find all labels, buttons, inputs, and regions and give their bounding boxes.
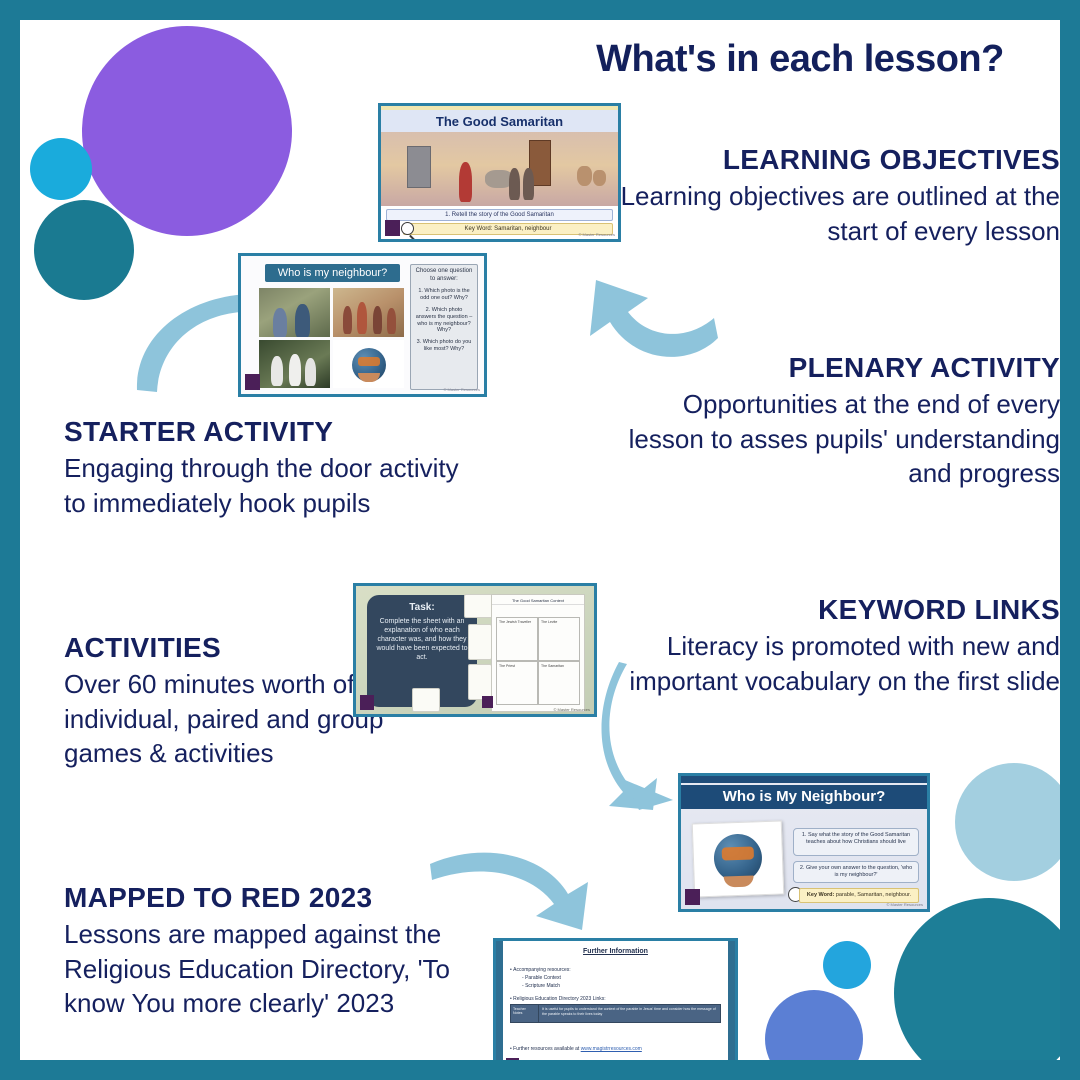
decor-circle-periwinkle	[765, 990, 863, 1060]
teacher-notes-text: It is useful for pupils to understand th…	[539, 1005, 720, 1022]
body-starter-activity: Engaging through the door activity to im…	[64, 451, 464, 520]
keyword-label: Key Word:	[465, 226, 493, 232]
teacher-notes-box: Teacher Notes It is useful for pupils to…	[510, 1004, 721, 1023]
task-label: Task:	[375, 601, 469, 614]
photo-children-running	[259, 340, 330, 389]
slide-illustration-samaritan-scene	[381, 132, 618, 206]
slide-right-edge	[728, 941, 735, 1060]
text-block-starter-activity: STARTER ACTIVITY Engaging through the do…	[64, 416, 464, 520]
slide-top-strip	[681, 776, 927, 783]
sub-bullet-text: Parable Context	[525, 975, 561, 981]
worksheet-title: The Good Samaritan Context	[492, 595, 584, 605]
decor-circle-purple	[82, 26, 292, 236]
decor-circle-teal-top	[34, 200, 134, 300]
question-heading: Choose one question to answer:	[415, 268, 473, 283]
globe-photo	[692, 820, 785, 897]
character-card-4	[412, 688, 440, 712]
heading-mapped-to-red-2023: MAPPED TO RED 2023	[64, 882, 494, 914]
slide-credit: © Master Resources	[578, 232, 615, 237]
slide-question-panel: Choose one question to answer: 1. Which …	[410, 264, 478, 390]
keyword-label: Key Word:	[807, 892, 834, 898]
body-mapped-to-red-2023: Lessons are mapped against the Religious…	[64, 917, 494, 1020]
slide-thumbnail-good-samaritan[interactable]: The Good Samaritan 1. Retell the story o…	[378, 103, 621, 242]
publisher-logo-icon	[245, 374, 260, 390]
further-resources-link[interactable]: www.magistrresources.com	[581, 1046, 642, 1052]
slide-thumbnail-further-information[interactable]: Further Information • Accompanying resou…	[493, 938, 738, 1060]
character-card-3	[468, 664, 492, 700]
worksheet-cell: The Priest	[496, 661, 538, 705]
question-item: 1. Which photo is the odd one out? Why?	[415, 288, 473, 302]
sub-bullet-parable-context: - Parable Context	[522, 975, 561, 982]
worksheet-cell: The Jewish Traveller	[496, 617, 538, 661]
worksheet-cell: The Levite	[538, 617, 580, 661]
heading-plenary-activity: PLENARY ACTIVITY	[620, 352, 1060, 384]
photo-globe-in-hands	[333, 340, 404, 389]
bullet-accompanying-resources: • Accompanying resources:	[510, 967, 571, 974]
publisher-logo-icon	[360, 695, 374, 710]
publisher-logo-icon	[685, 889, 700, 905]
slide-photo-grid	[259, 288, 404, 388]
text-block-mapped-to-red-2023: MAPPED TO RED 2023 Lessons are mapped ag…	[64, 882, 494, 1020]
plenary-question-2: 2. Give your own answer to the question,…	[793, 861, 919, 883]
task-text: Complete the sheet with an explanation o…	[376, 618, 467, 661]
page-title: What's in each lesson?	[540, 38, 1060, 81]
body-learning-objectives: Learning objectives are outlined at the …	[620, 179, 1060, 248]
publisher-logo-icon-secondary	[482, 696, 493, 708]
keyword-value: parable, Samaritan, neighbour.	[834, 892, 911, 898]
question-item: 3. Which photo do you like most? Why?	[415, 339, 473, 353]
slide-title-good-samaritan: The Good Samaritan	[381, 110, 618, 132]
publisher-logo-icon	[385, 220, 400, 236]
poster-inner: What's in each lesson? LEARNING OBJECTIV…	[20, 20, 1060, 1060]
slide-left-edge	[496, 941, 503, 1060]
sub-bullet-text: Scripture Match	[525, 983, 560, 989]
character-card-2	[468, 624, 492, 660]
slide-title-plenary-neighbour: Who is My Neighbour?	[681, 785, 927, 809]
plenary-question-1: 1. Say what the story of the Good Samari…	[793, 828, 919, 856]
worksheet-cell: The Samaritan	[538, 661, 580, 705]
text-block-keyword-links: KEYWORD LINKS Literacy is promoted with …	[620, 594, 1060, 698]
bullet-red-2023-links: • Religious Education Directory 2023 Lin…	[510, 996, 606, 1003]
bullet-text: Religious Education Directory 2023 Links…	[513, 996, 606, 1002]
decor-circle-teal-bottom	[894, 898, 1060, 1060]
heading-keyword-links: KEYWORD LINKS	[620, 594, 1060, 626]
teacher-notes-label: Teacher Notes	[511, 1005, 539, 1022]
bullet-text: Further resources available at	[513, 1046, 581, 1052]
text-block-learning-objectives: LEARNING OBJECTIVES Learning objectives …	[620, 144, 1060, 248]
slide-keyword-bar-plenary: Key Word: parable, Samaritan, neighbour.	[799, 888, 919, 903]
slide-credit: © Master Resources	[443, 387, 480, 392]
publisher-logo-icon	[506, 1058, 519, 1060]
question-item: 2. Which photo answers the question – wh…	[415, 307, 473, 335]
slide-thumbnail-starter-neighbour[interactable]: Who is my neighbour?	[238, 253, 487, 397]
slide-credit: © Master Resources	[553, 707, 590, 712]
heading-learning-objectives: LEARNING OBJECTIVES	[620, 144, 1060, 176]
slide-thumbnail-plenary-neighbour[interactable]: Who is My Neighbour? 1. Say what the sto…	[678, 773, 930, 912]
keyword-value: Samaritan, neighbour	[492, 226, 551, 232]
bullet-text: Accompanying resources:	[513, 967, 571, 973]
slide-credit: © Master Resources	[886, 902, 923, 907]
worksheet: The Good Samaritan Context The Jewish Tr…	[491, 594, 585, 712]
body-keyword-links: Literacy is promoted with new and import…	[620, 629, 1060, 698]
magnifier-handle-icon	[409, 234, 415, 240]
magnifier-icon	[401, 222, 414, 235]
slide-title-further-information: Further Information	[496, 948, 735, 955]
decor-circle-lightblue	[955, 763, 1060, 881]
poster-canvas: What's in each lesson? LEARNING OBJECTIV…	[0, 0, 1080, 1080]
slide-objective-good-samaritan: 1. Retell the story of the Good Samarita…	[386, 209, 613, 221]
body-plenary-activity: Opportunities at the end of every lesson…	[620, 387, 1060, 490]
slide-thumbnail-task-activity[interactable]: Task: Complete the sheet with an explana…	[353, 583, 597, 717]
slide-title-starter-neighbour: Who is my neighbour?	[265, 264, 400, 282]
photo-two-adults-talking	[259, 288, 330, 337]
photo-children-celebrating	[333, 288, 404, 337]
heading-starter-activity: STARTER ACTIVITY	[64, 416, 464, 448]
bullet-further-resources: • Further resources available at www.mag…	[510, 1046, 642, 1053]
decor-circle-cyan-bottom	[823, 941, 871, 989]
sub-bullet-scripture-match: - Scripture Match	[522, 983, 560, 990]
decor-circle-cyan-top	[30, 138, 92, 200]
text-block-plenary-activity: PLENARY ACTIVITY Opportunities at the en…	[620, 352, 1060, 490]
worksheet-quadrants: The Jewish Traveller The Levite The Prie…	[496, 617, 580, 705]
